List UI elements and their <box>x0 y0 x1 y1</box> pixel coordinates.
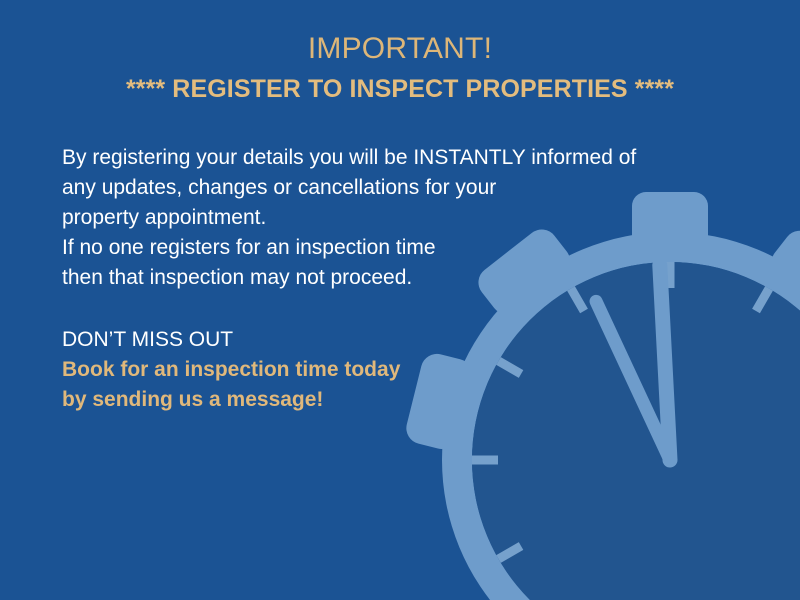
paragraph-registering: By registering your details you will be … <box>62 143 722 233</box>
paragraph1-line1: By registering your details you will be … <box>62 143 722 173</box>
cta-book-inspection: Book for an inspection time today <box>62 355 722 385</box>
headline-important: IMPORTANT! <box>0 30 800 68</box>
paragraph1-line2: any updates, changes or cancellations fo… <box>62 173 722 203</box>
cta-dont-miss-out: DON’T MISS OUT <box>62 325 722 355</box>
headline-register: **** REGISTER TO INSPECT PROPERTIES **** <box>0 72 800 106</box>
promo-slide: IMPORTANT! **** REGISTER TO INSPECT PROP… <box>0 0 800 600</box>
paragraph-no-registrations: If no one registers for an inspection ti… <box>62 233 722 293</box>
body-copy: By registering your details you will be … <box>62 143 722 415</box>
paragraph1-line3: property appointment. <box>62 203 722 233</box>
paragraph2-line2: then that inspection may not proceed. <box>62 263 722 293</box>
paragraph2-line1: If no one registers for an inspection ti… <box>62 233 722 263</box>
headline-group: IMPORTANT! **** REGISTER TO INSPECT PROP… <box>0 30 800 106</box>
call-to-action: DON’T MISS OUT Book for an inspection ti… <box>62 325 722 415</box>
cta-send-message: by sending us a message! <box>62 385 722 415</box>
